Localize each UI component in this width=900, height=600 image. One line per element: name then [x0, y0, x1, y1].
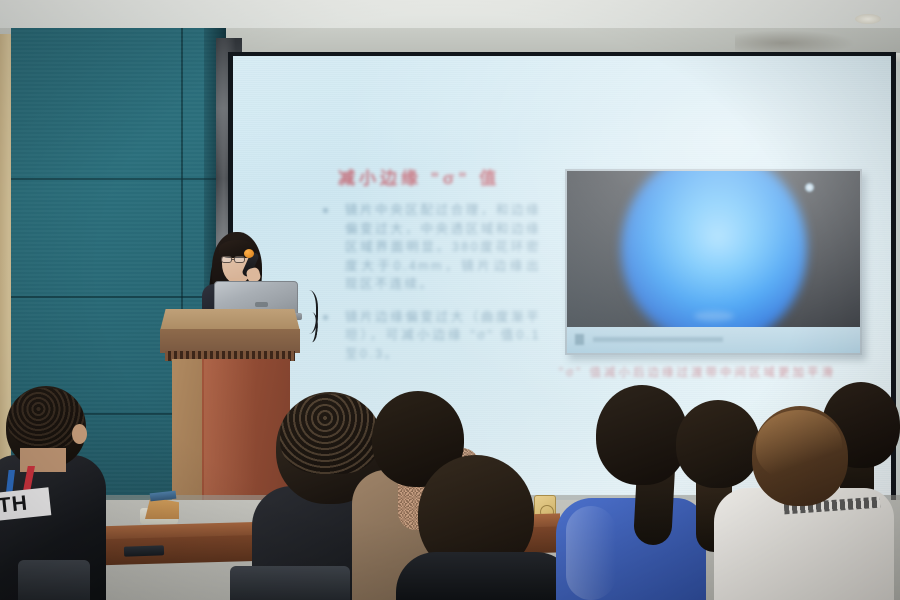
attendee-hair-texture [280, 394, 380, 474]
slide-bullet: 镜片中央区配过合理，和边缘偏变过大，中央透区域和边缘区域界面明显。380度花环密… [311, 201, 541, 294]
black-smartphone[interactable] [124, 545, 164, 556]
microphone-head-icon [244, 249, 254, 258]
slide-caption: "σ" 值减小后边缘过渡带中间区域更加平滑 [559, 364, 879, 380]
video-control-bar[interactable] [567, 327, 860, 353]
laptop-logo-icon [255, 302, 268, 307]
seek-track[interactable] [593, 337, 723, 342]
lectern-top-cap [160, 309, 300, 331]
panel-seam [11, 296, 226, 298]
glasses-lens-right-icon [234, 256, 245, 263]
embedded-video-player[interactable] [565, 169, 862, 355]
attendee-top-sheen [566, 506, 616, 600]
highlight-spark-icon [805, 183, 814, 192]
slide-bullet-list: 镜片中央区配过合理，和边缘偏变过大，中央透区域和边缘区域界面明显。380度花环密… [311, 201, 541, 377]
play-icon[interactable] [575, 334, 584, 345]
attendee-body [396, 552, 576, 600]
slide-bullet: 镜片边缘偏变过大（曲度渐平坦），可减小边缘 "σ" 值0.1至0.3。 [311, 308, 541, 364]
attendee-head [596, 385, 688, 485]
glasses-bridge-icon [232, 259, 235, 260]
lectern-top-face [160, 329, 300, 353]
attendee-hair-sheen [756, 410, 842, 480]
lower-glow [694, 311, 734, 321]
downlight-icon [855, 14, 881, 24]
conference-chair[interactable] [230, 566, 350, 600]
attendee-ear [72, 424, 87, 444]
conference-photo: 减小边缘 "σ" 值 镜片中央区配过合理，和边缘偏变过大，中央透区域和边缘区域界… [0, 0, 900, 600]
slide-title: 减小边缘 "σ" 值 [338, 164, 588, 189]
panel-seam [11, 178, 226, 180]
attendee-head [676, 400, 760, 488]
glasses-lens-left-icon [221, 256, 232, 263]
conference-chair[interactable] [18, 560, 90, 600]
video-viewport [567, 171, 860, 327]
blue-light-glow [621, 171, 807, 327]
